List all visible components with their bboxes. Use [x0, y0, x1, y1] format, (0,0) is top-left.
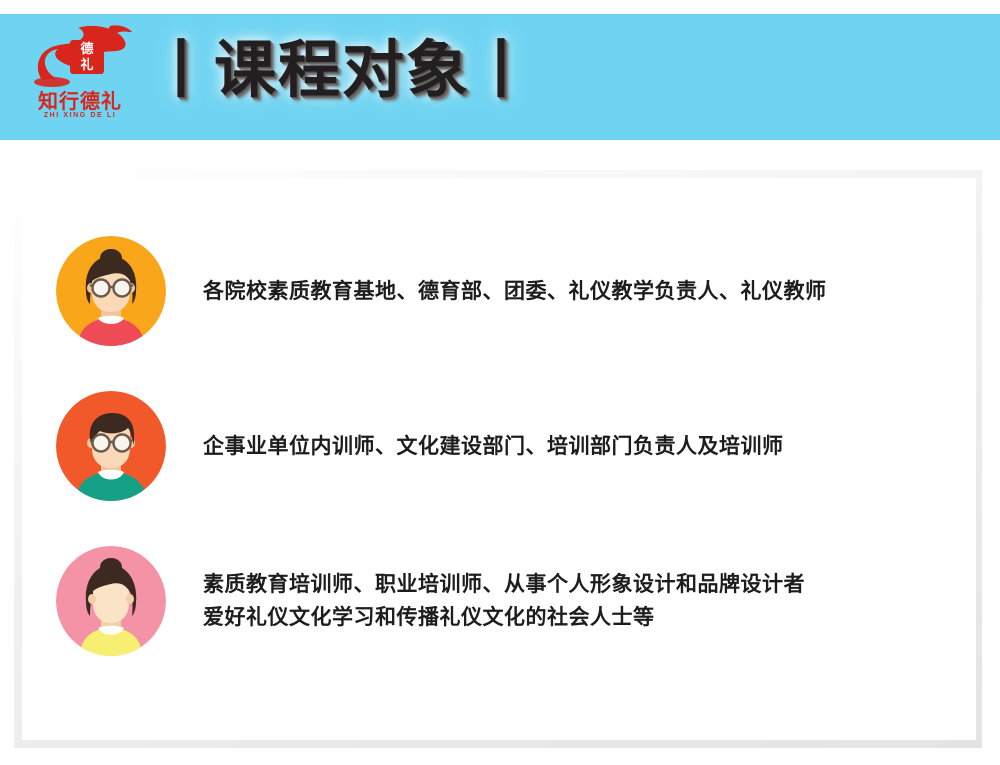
svg-text:德: 德: [80, 41, 93, 57]
audience-row: 企事业单位内训师、文化建设部门、培训部门负责人及培训师: [22, 391, 976, 501]
audience-row: 素质教育培训师、职业培训师、从事个人形象设计和品牌设计者 爱好礼仪文化学习和传播…: [22, 546, 976, 656]
audience-text: 素质教育培训师、职业培训师、从事个人形象设计和品牌设计者 爱好礼仪文化学习和传播…: [203, 568, 805, 634]
avatar-man-glasses-icon: [56, 391, 166, 501]
audience-line: 素质教育培训师、职业培训师、从事个人形象设计和品牌设计者: [203, 568, 805, 601]
avatar-woman-glasses-icon: [56, 236, 166, 346]
dragon-seal-logo-icon: 德 礼: [24, 20, 136, 94]
audience-line: 企事业单位内训师、文化建设部门、培训部门负责人及培训师: [203, 430, 784, 463]
audience-line: 各院校素质教育基地、德育部、团委、礼仪教学负责人、礼仪教师: [203, 275, 827, 308]
logo[interactable]: 德 礼 知行德礼 ZHI XING DE LI: [24, 20, 136, 122]
audience-line: 爱好礼仪文化学习和传播礼仪文化的社会人士等: [203, 601, 805, 634]
logo-pinyin: ZHI XING DE LI: [24, 112, 136, 119]
audience-text: 企事业单位内训师、文化建设部门、培训部门负责人及培训师: [203, 430, 784, 463]
content-card: 各院校素质教育基地、德育部、团委、礼仪教学负责人、礼仪教师: [22, 178, 976, 740]
page-title: 丨课程对象丨: [150, 28, 534, 112]
svg-text:礼: 礼: [80, 57, 93, 73]
logo-wordmark: 知行德礼: [24, 90, 136, 112]
avatar-woman-plain-icon: [56, 546, 166, 656]
audience-text: 各院校素质教育基地、德育部、团委、礼仪教学负责人、礼仪教师: [203, 275, 827, 308]
audience-row: 各院校素质教育基地、德育部、团委、礼仪教学负责人、礼仪教师: [22, 236, 976, 346]
